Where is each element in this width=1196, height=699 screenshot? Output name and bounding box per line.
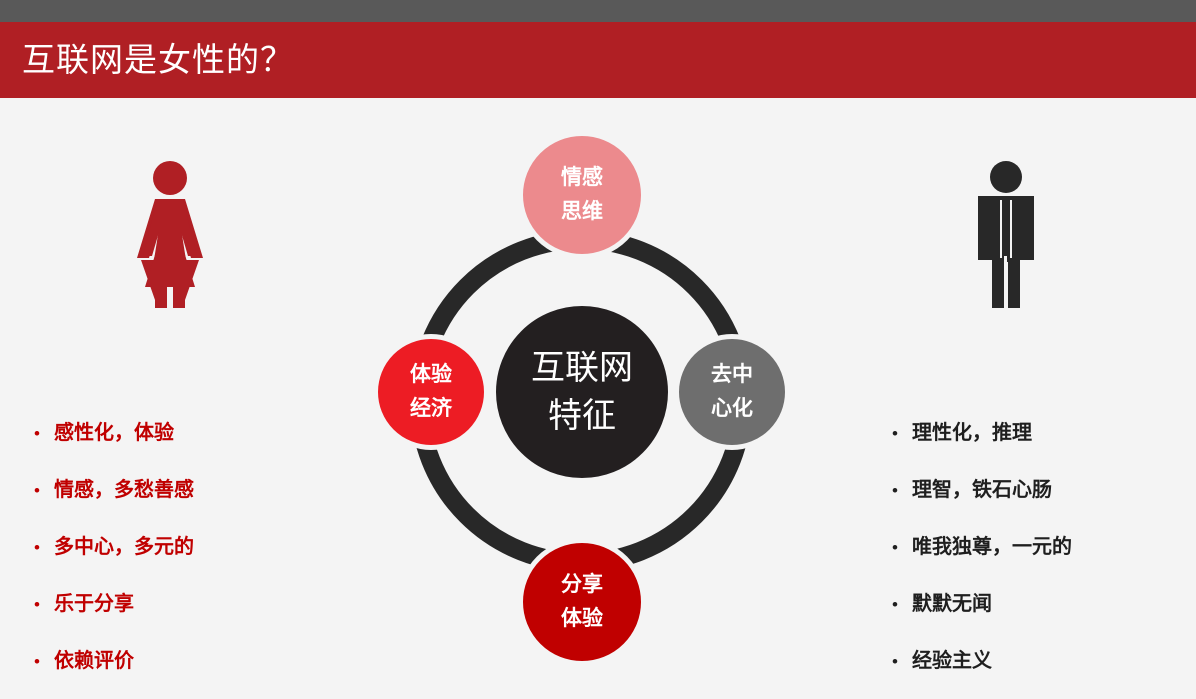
bullet-dot-icon: • — [34, 478, 54, 504]
list-item: • 感性化，体验 — [34, 420, 324, 477]
node-top-line2: 思维 — [561, 195, 603, 229]
center-node-line2: 特征 — [548, 392, 616, 440]
bullet-dot-icon: • — [34, 592, 54, 618]
slide-body: • 感性化，体验 • 情感，多愁善感 • 多中心，多元的 • 乐于分享 • 依赖… — [0, 98, 1196, 699]
bullet-dot-icon: • — [892, 649, 912, 675]
bullet-label: 理智，铁石心肠 — [912, 477, 1052, 503]
list-item: • 多中心，多元的 — [34, 534, 324, 591]
bullet-label: 依赖评价 — [54, 648, 134, 674]
right-bullet-list: • 理性化，推理 • 理智，铁石心肠 • 唯我独尊，一元的 • 默默无闻 • 经… — [892, 420, 1192, 699]
cycle-diagram: 互联网 特征 情感 思维 体验 经济 去中 心化 分享 体验 — [360, 120, 800, 680]
list-item: • 默默无闻 — [892, 591, 1192, 648]
bullet-label: 情感，多愁善感 — [54, 477, 194, 503]
male-pictogram — [966, 160, 1046, 313]
bullet-label: 感性化，体验 — [54, 420, 174, 446]
node-left-line1: 体验 — [410, 358, 452, 392]
node-top-line1: 情感 — [561, 161, 603, 195]
node-right-line1: 去中 — [711, 358, 753, 392]
bullet-label: 默默无闻 — [912, 591, 992, 617]
top-strip — [0, 0, 1196, 22]
bullet-dot-icon: • — [892, 535, 912, 561]
female-pictogram — [124, 160, 216, 313]
bullet-dot-icon: • — [34, 535, 54, 561]
diagram-node-left[interactable]: 体验 经济 — [373, 334, 489, 450]
diagram-node-top[interactable]: 情感 思维 — [518, 131, 646, 259]
bullet-label: 乐于分享 — [54, 591, 134, 617]
list-item: • 理性化，推理 — [892, 420, 1192, 477]
bullet-label: 理性化，推理 — [912, 420, 1032, 446]
bullet-label: 经验主义 — [912, 648, 992, 674]
list-item: • 理智，铁石心肠 — [892, 477, 1192, 534]
bullet-dot-icon: • — [892, 592, 912, 618]
bullet-dot-icon: • — [34, 421, 54, 447]
list-item: • 经验主义 — [892, 648, 1192, 699]
node-bottom-line2: 体验 — [561, 602, 603, 636]
bullet-dot-icon: • — [892, 478, 912, 504]
bullet-label: 多中心，多元的 — [54, 534, 194, 560]
slide-canvas: 互联网是女性的？ — [0, 0, 1196, 699]
node-bottom-line1: 分享 — [561, 568, 603, 602]
left-bullet-list: • 感性化，体验 • 情感，多愁善感 • 多中心，多元的 • 乐于分享 • 依赖… — [34, 420, 324, 699]
diagram-node-bottom[interactable]: 分享 体验 — [518, 538, 646, 666]
node-right-line2: 心化 — [711, 392, 753, 426]
bullet-dot-icon: • — [34, 649, 54, 675]
list-item: • 情感，多愁善感 — [34, 477, 324, 534]
diagram-node-right[interactable]: 去中 心化 — [674, 334, 790, 450]
page-title: 互联网是女性的？ — [22, 30, 294, 90]
list-item: • 唯我独尊，一元的 — [892, 534, 1192, 591]
center-node-line1: 互联网 — [531, 344, 633, 392]
list-item: • 乐于分享 — [34, 591, 324, 648]
diagram-center-node[interactable]: 互联网 特征 — [490, 300, 674, 484]
bullet-dot-icon: • — [892, 421, 912, 447]
list-item: • 依赖评价 — [34, 648, 324, 699]
bullet-label: 唯我独尊，一元的 — [912, 534, 1072, 560]
node-left-line2: 经济 — [410, 392, 452, 426]
